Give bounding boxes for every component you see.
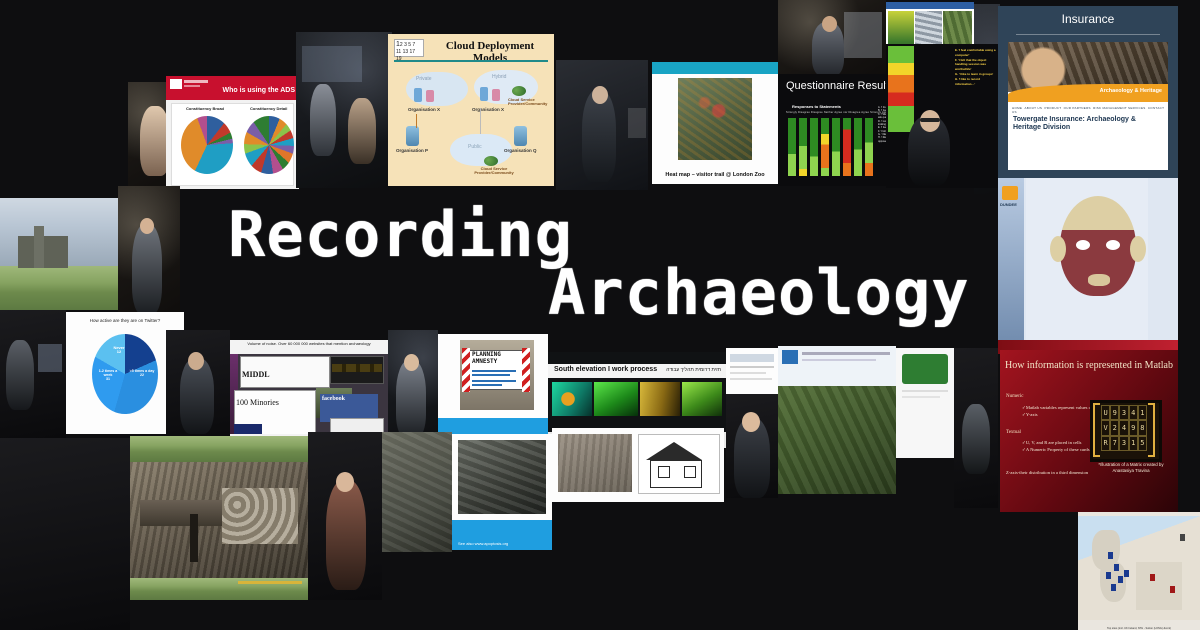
cloud-label-provider1: Cloud Service Provider/Community (508, 98, 550, 107)
photo-lecture-room-1 (296, 32, 392, 188)
planning-sign-line2: AMNESTY (472, 358, 497, 365)
cloud-label-hybrid: Hybrid (492, 74, 506, 80)
photo-speaker-dark (954, 348, 998, 508)
photo-attendee-woman (726, 394, 778, 498)
twitter-slice-day-value: 22 (140, 373, 144, 377)
matlab-section-textual: Textual (1006, 430, 1021, 435)
noise-caption: Volume of noise. Over 60 000 000 website… (232, 342, 386, 346)
slide-ads-usage: Who is using the ADS Constituency Broad … (166, 76, 299, 189)
matlab-section-zaxis: Z-axis-their distribution in a third dim… (1006, 470, 1092, 476)
photo-audience-member (886, 44, 952, 188)
collage-canvas: Who is using the ADS Constituency Broad … (0, 0, 1200, 630)
noise-headline-1: MIDDL (242, 370, 270, 379)
slide-statements-callout: E. 'I feel comfortable using a computer'… (952, 44, 1000, 188)
dundee-logo-label: DUNDEE (1000, 202, 1017, 207)
twitter-slice-never-value: 12 (117, 349, 121, 354)
questionnaire-legend: Strongly Disagree Disagree Neither Agree… (786, 111, 890, 114)
elevation-caption-rtl: חזית דרומית תהליך עבודה (666, 367, 721, 373)
slide-aerial-apoptosis: See also www.apoptosis.org (452, 434, 552, 550)
insurance-band-label: Archaeology & Heritage (1100, 88, 1162, 94)
photo-attendee-screen (388, 330, 438, 442)
photo-bottom-left (0, 438, 130, 630)
matlab-title: How information is represented in Matlab (1000, 360, 1178, 371)
photo-computer-desk (0, 310, 66, 438)
slide-cloud-deployment: 12 3 5 711 13 17 19 Cloud Deployment Mod… (388, 34, 554, 186)
apoptosis-caption: See also www.apoptosis.org (458, 541, 508, 546)
matlab-bullet-2a: U, V, and R are placed in cells (1026, 440, 1082, 445)
photo-aerial-site (382, 432, 452, 552)
cloud-label-orgx1: Organisation X (408, 107, 440, 112)
slide-building-elevations (552, 428, 724, 502)
insurance-title: Insurance (998, 12, 1178, 26)
insurance-headline: Towergate Insurance: Archaeology & Herit… (1013, 116, 1160, 133)
questionnaire-chart-title: Responses to Statements (792, 104, 841, 109)
questionnaire-title: Questionnaire Results (786, 80, 894, 92)
photo-presenter-projector (308, 432, 382, 600)
matlab-section-numeric: Numeric (1006, 394, 1024, 399)
elevation-caption: South elevation I work process (554, 366, 657, 373)
slide-blue-header (778, 346, 896, 386)
insurance-nav[interactable]: HOME ABOUT US PRODUCT OUR PARTNERS RISK … (1012, 106, 1168, 114)
photo-speaker-podium (118, 186, 180, 316)
photo-presenter-laptop (166, 330, 230, 440)
noise-headline-3: facebook (322, 396, 345, 402)
cloud-label-public: Public (468, 144, 482, 150)
slide-apoptosis (896, 348, 954, 458)
photo-ruins-field (0, 198, 118, 310)
twitter-slice-week-label: 1-2 times a week (99, 369, 118, 377)
slide-heatmap-zoo: Heat map – visitor trail @ London Zoo (652, 62, 778, 184)
twitter-pie-title: How active are they are on Twitter? (72, 318, 178, 323)
cloud-label-orgp: Organisation P (396, 148, 428, 153)
photo-speaker-projector (778, 0, 886, 74)
cloud-label-orgq: Organisation Q (504, 148, 537, 153)
cloud-label-provider2: Cloud Service Provider/Community (470, 167, 518, 176)
noise-headline-2: 100 Minories (236, 398, 279, 407)
slide-planning-amnesty: PLANNING AMNESTY (438, 334, 548, 444)
matlab-matrix: U 9 3 4 1 V 2 4 9 8 R 7 3 1 5 (1101, 405, 1147, 451)
slide-matlab-representation: How information is represented in Matlab… (1000, 350, 1178, 512)
slide-insurance: Insurance Archaeology & Heritage HOME AB… (998, 6, 1178, 178)
cloud-label-orgx2: Organisation X (472, 107, 504, 112)
title-line-1: Recording (228, 198, 573, 271)
matlab-credit: *Illustration of a Matrix created by Ana… (1096, 462, 1166, 473)
ads-left-chart-title: Constituency Broad (186, 106, 224, 111)
cloud-label-private: Private (416, 76, 432, 82)
slide-europe-map: Top sites (incl. UK Ireland, NTH - Sutto… (1078, 512, 1200, 630)
ads-banner-title: Who is using the ADS (223, 87, 295, 94)
heatmap-caption: Heat map – visitor trail @ London Zoo (658, 172, 772, 178)
title-line-2: Archaeology (548, 256, 970, 329)
slide-facial-reconstruction: DUNDEE (998, 178, 1178, 354)
ads-right-chart-title: Constituency Detail (250, 106, 287, 111)
photo-speaker-presenting (556, 60, 648, 190)
twitter-slice-week-value: 31 (106, 377, 110, 381)
slide-volume-of-noise: Volume of noise. Over 60 000 000 website… (230, 340, 388, 444)
photo-excavation-trench (130, 436, 308, 600)
matlab-bullet-1b: Y-axis (1026, 412, 1038, 417)
